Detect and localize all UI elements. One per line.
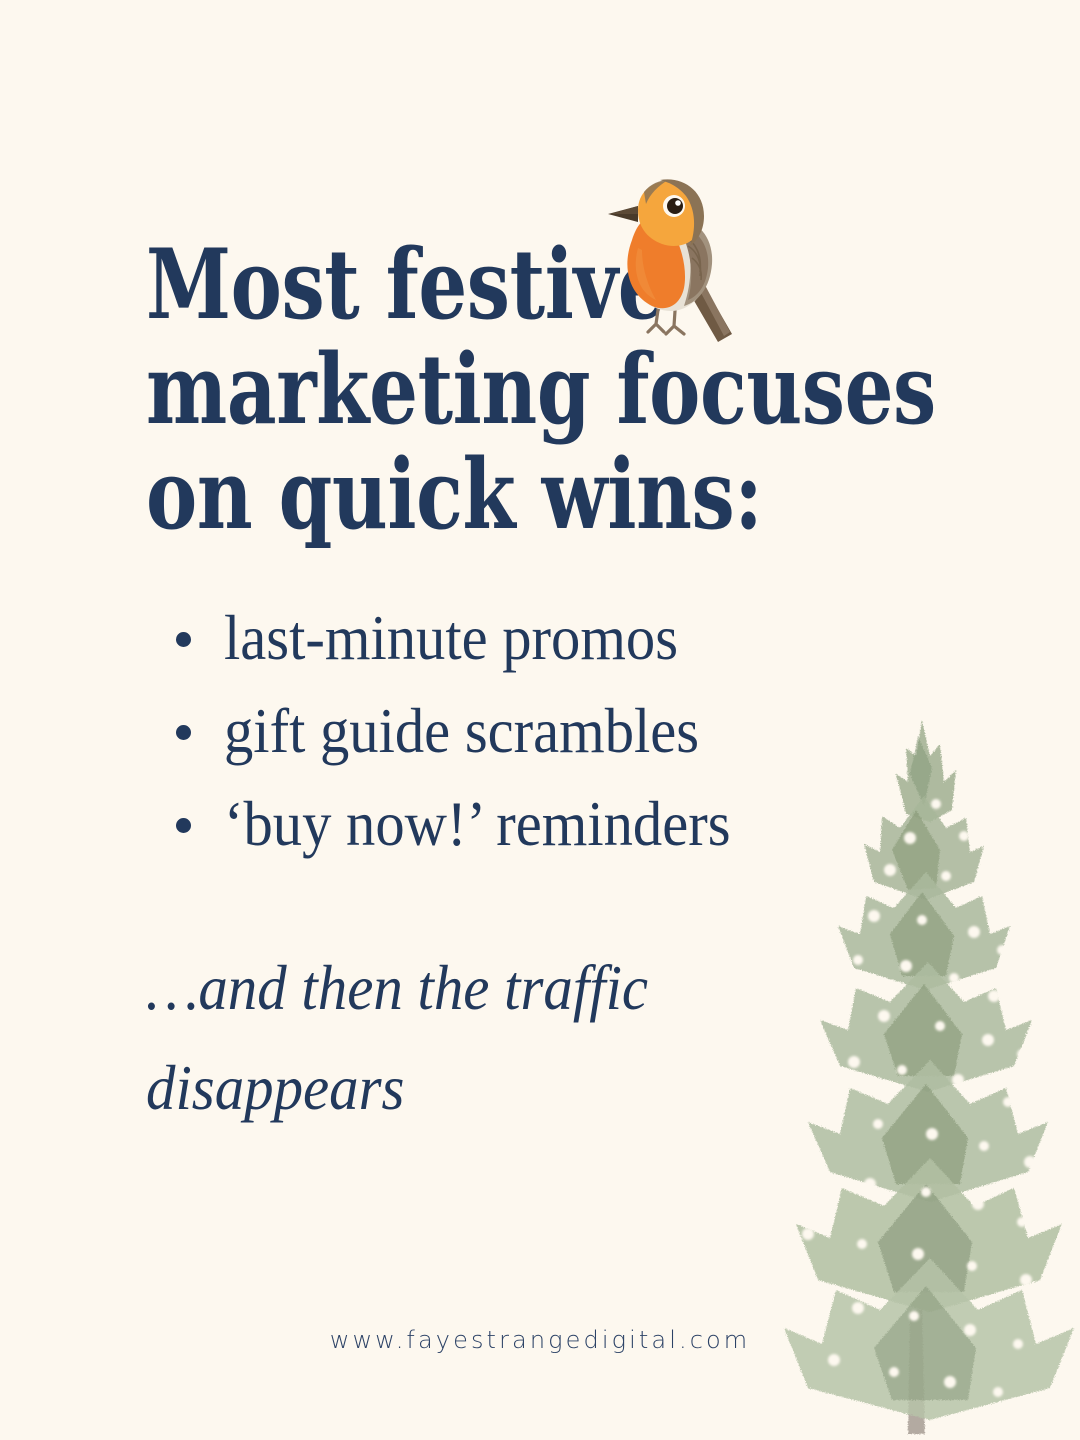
- bullet-dot-icon: [176, 725, 191, 740]
- closing-statement: …and then the traffic disappears: [146, 938, 866, 1138]
- list-item-label: last-minute promos: [224, 592, 678, 685]
- headline-line-3: on quick wins:: [146, 442, 754, 547]
- bullet-dot-icon: [176, 632, 191, 647]
- list-item-label: ‘buy now!’ reminders: [224, 778, 731, 871]
- headline-line-1: Most festive: [146, 232, 754, 337]
- headline: Most festive marketing focuses on quick …: [146, 232, 754, 547]
- closing-line-2: disappears: [146, 1038, 808, 1138]
- poster-canvas: Most festive marketing focuses on quick …: [0, 0, 1080, 1440]
- bullet-dot-icon: [176, 818, 191, 833]
- bullet-list: last-minute promos gift guide scrambles …: [168, 592, 908, 871]
- closing-line-1: …and then the traffic: [146, 938, 808, 1038]
- list-item-label: gift guide scrambles: [224, 685, 699, 778]
- list-item: last-minute promos: [168, 592, 908, 685]
- footer-website-url[interactable]: www.fayestrangedigital.com: [0, 1326, 1080, 1354]
- headline-line-2: marketing focuses: [146, 337, 754, 442]
- list-item: gift guide scrambles: [168, 685, 908, 778]
- list-item: ‘buy now!’ reminders: [168, 778, 908, 871]
